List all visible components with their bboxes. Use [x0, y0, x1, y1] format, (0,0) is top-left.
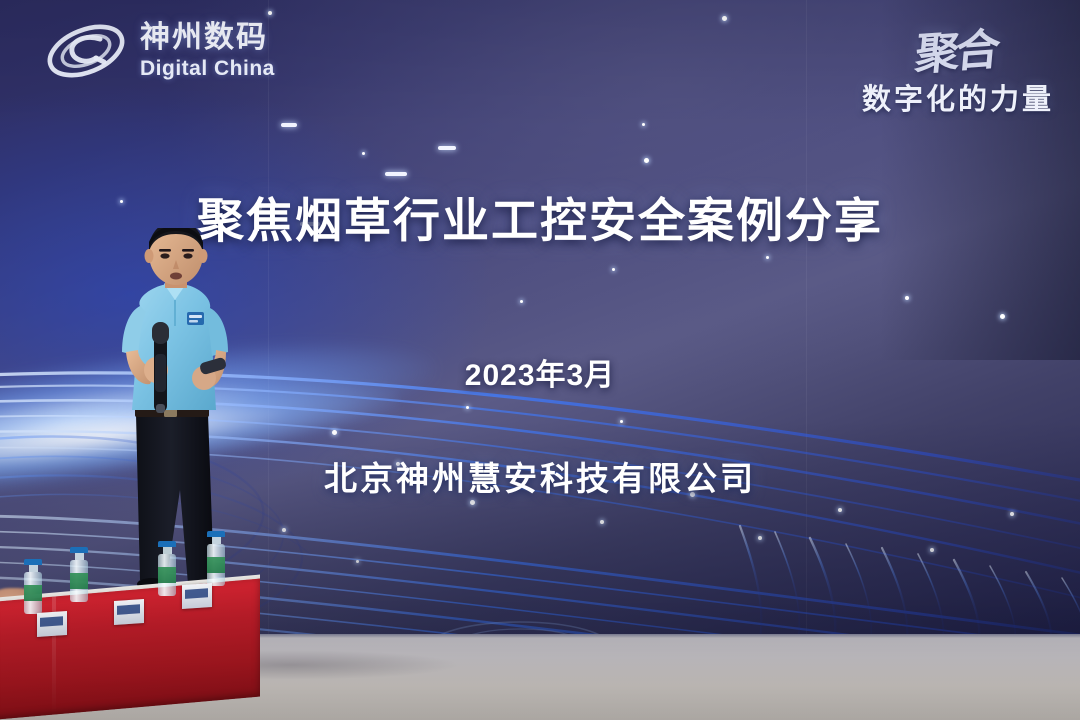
light-particle [612, 268, 615, 271]
light-particle [838, 508, 842, 512]
panel-table [0, 580, 264, 720]
brand-name-cn: 神州数码 [140, 23, 275, 53]
light-particle [905, 296, 909, 300]
light-particle [385, 172, 407, 176]
light-particle [600, 520, 604, 524]
name-card [37, 611, 67, 637]
light-particle [758, 536, 762, 540]
light-particle [520, 300, 523, 303]
company-badge-icon [187, 312, 204, 325]
light-particle [722, 16, 727, 21]
event-brush-title: 聚合 [913, 13, 999, 82]
presenter-figure [96, 228, 276, 628]
light-particle [268, 11, 272, 15]
water-bottle [70, 547, 88, 602]
event-subtitle: 数字化的力量 [862, 76, 1054, 118]
name-card [182, 583, 212, 609]
digital-china-swirl-icon [44, 18, 128, 84]
digital-china-logo: 神州数码 Digital China [44, 18, 275, 84]
water-bottle [24, 559, 42, 614]
light-particle [470, 500, 475, 505]
brand-name-en: Digital China [140, 58, 275, 79]
light-particle [766, 256, 769, 259]
light-particle [1010, 512, 1014, 516]
light-particle [356, 560, 359, 563]
light-particle [281, 123, 297, 127]
light-particle [644, 158, 649, 163]
microphone [152, 322, 169, 413]
light-particle [620, 420, 623, 423]
light-particle [466, 406, 469, 409]
light-particle [362, 152, 365, 155]
light-particle [282, 528, 286, 532]
event-slogan: 聚合 数字化的力量 [862, 16, 1054, 118]
name-card [114, 599, 144, 625]
conference-stage-photo: 神州数码 Digital China 聚合 数字化的力量 聚焦烟草行业工控安全案… [0, 0, 1080, 720]
light-particle [438, 146, 456, 150]
water-bottle [207, 531, 225, 586]
water-bottle [158, 541, 176, 596]
digital-china-wordmark: 神州数码 Digital China [140, 23, 275, 79]
light-particle [642, 123, 645, 126]
light-particle [1000, 314, 1005, 319]
light-particle [332, 430, 337, 435]
light-particle [930, 548, 934, 552]
